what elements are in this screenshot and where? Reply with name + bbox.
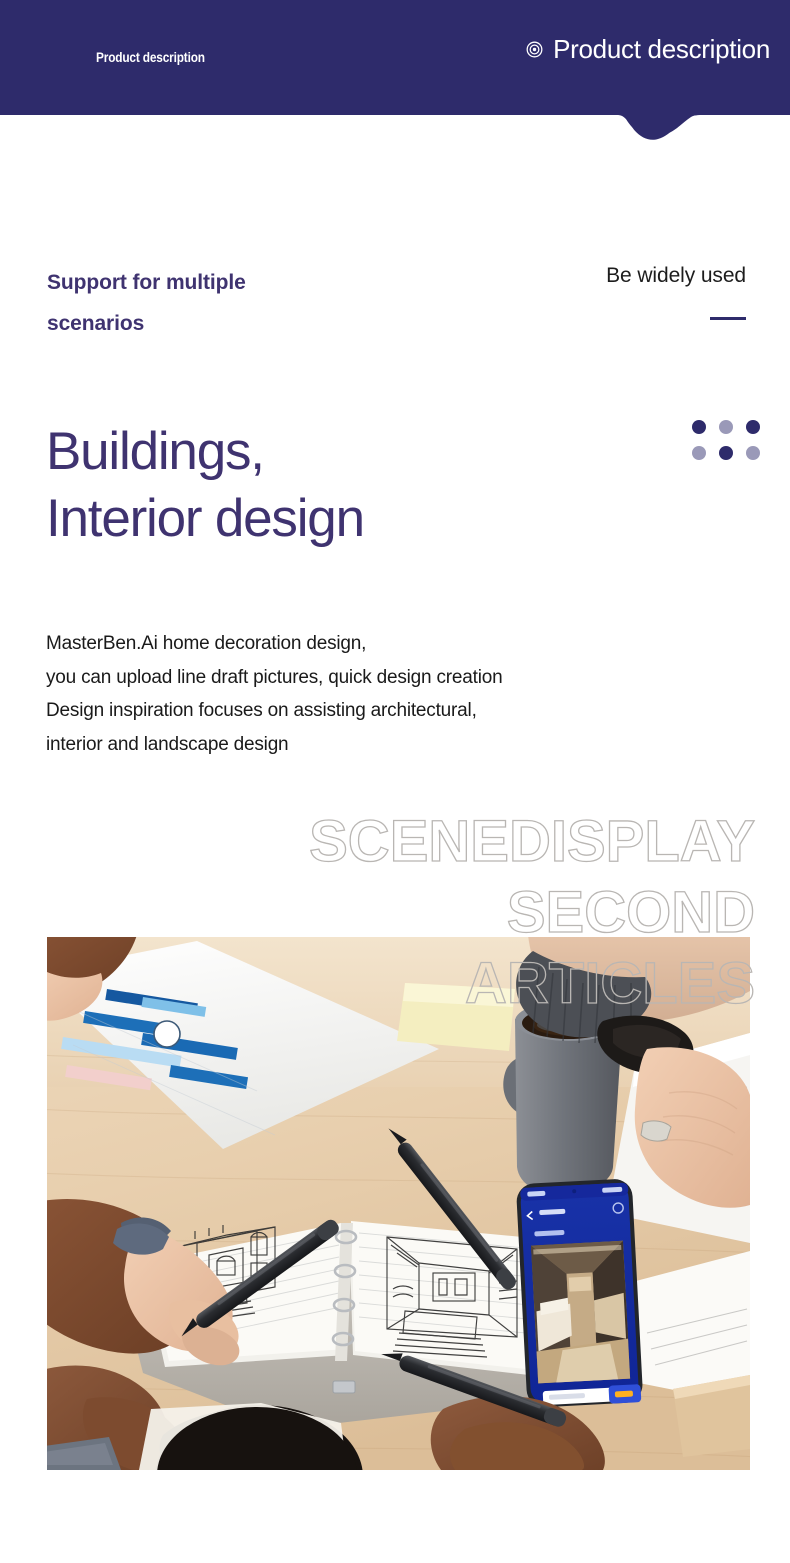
dot-grid-decoration	[692, 420, 760, 460]
scene-photo	[47, 937, 750, 1470]
subheading-left: Support for multiple scenarios	[47, 262, 347, 344]
subheading-right: Be widely used	[426, 262, 746, 290]
watermark-line-1: SCENEDISPLAY	[0, 806, 755, 877]
dot-decoration	[692, 420, 706, 434]
body-paragraph: MasterBen.Ai home decoration design, you…	[46, 627, 503, 761]
dot-decoration	[719, 446, 733, 460]
header-left-label: Product description	[96, 50, 205, 65]
dot-decoration	[692, 446, 706, 460]
header-right-title: Product description	[553, 36, 770, 62]
dot-decoration	[746, 446, 760, 460]
bullseye-icon	[526, 41, 543, 58]
dot-decoration	[746, 420, 760, 434]
subheading-right-group: Be widely used	[426, 262, 746, 320]
page-title: Buildings, Interior design	[46, 418, 364, 552]
subheading-rule	[710, 317, 746, 320]
dot-decoration	[719, 420, 733, 434]
header-right-group: Product description	[526, 36, 770, 62]
